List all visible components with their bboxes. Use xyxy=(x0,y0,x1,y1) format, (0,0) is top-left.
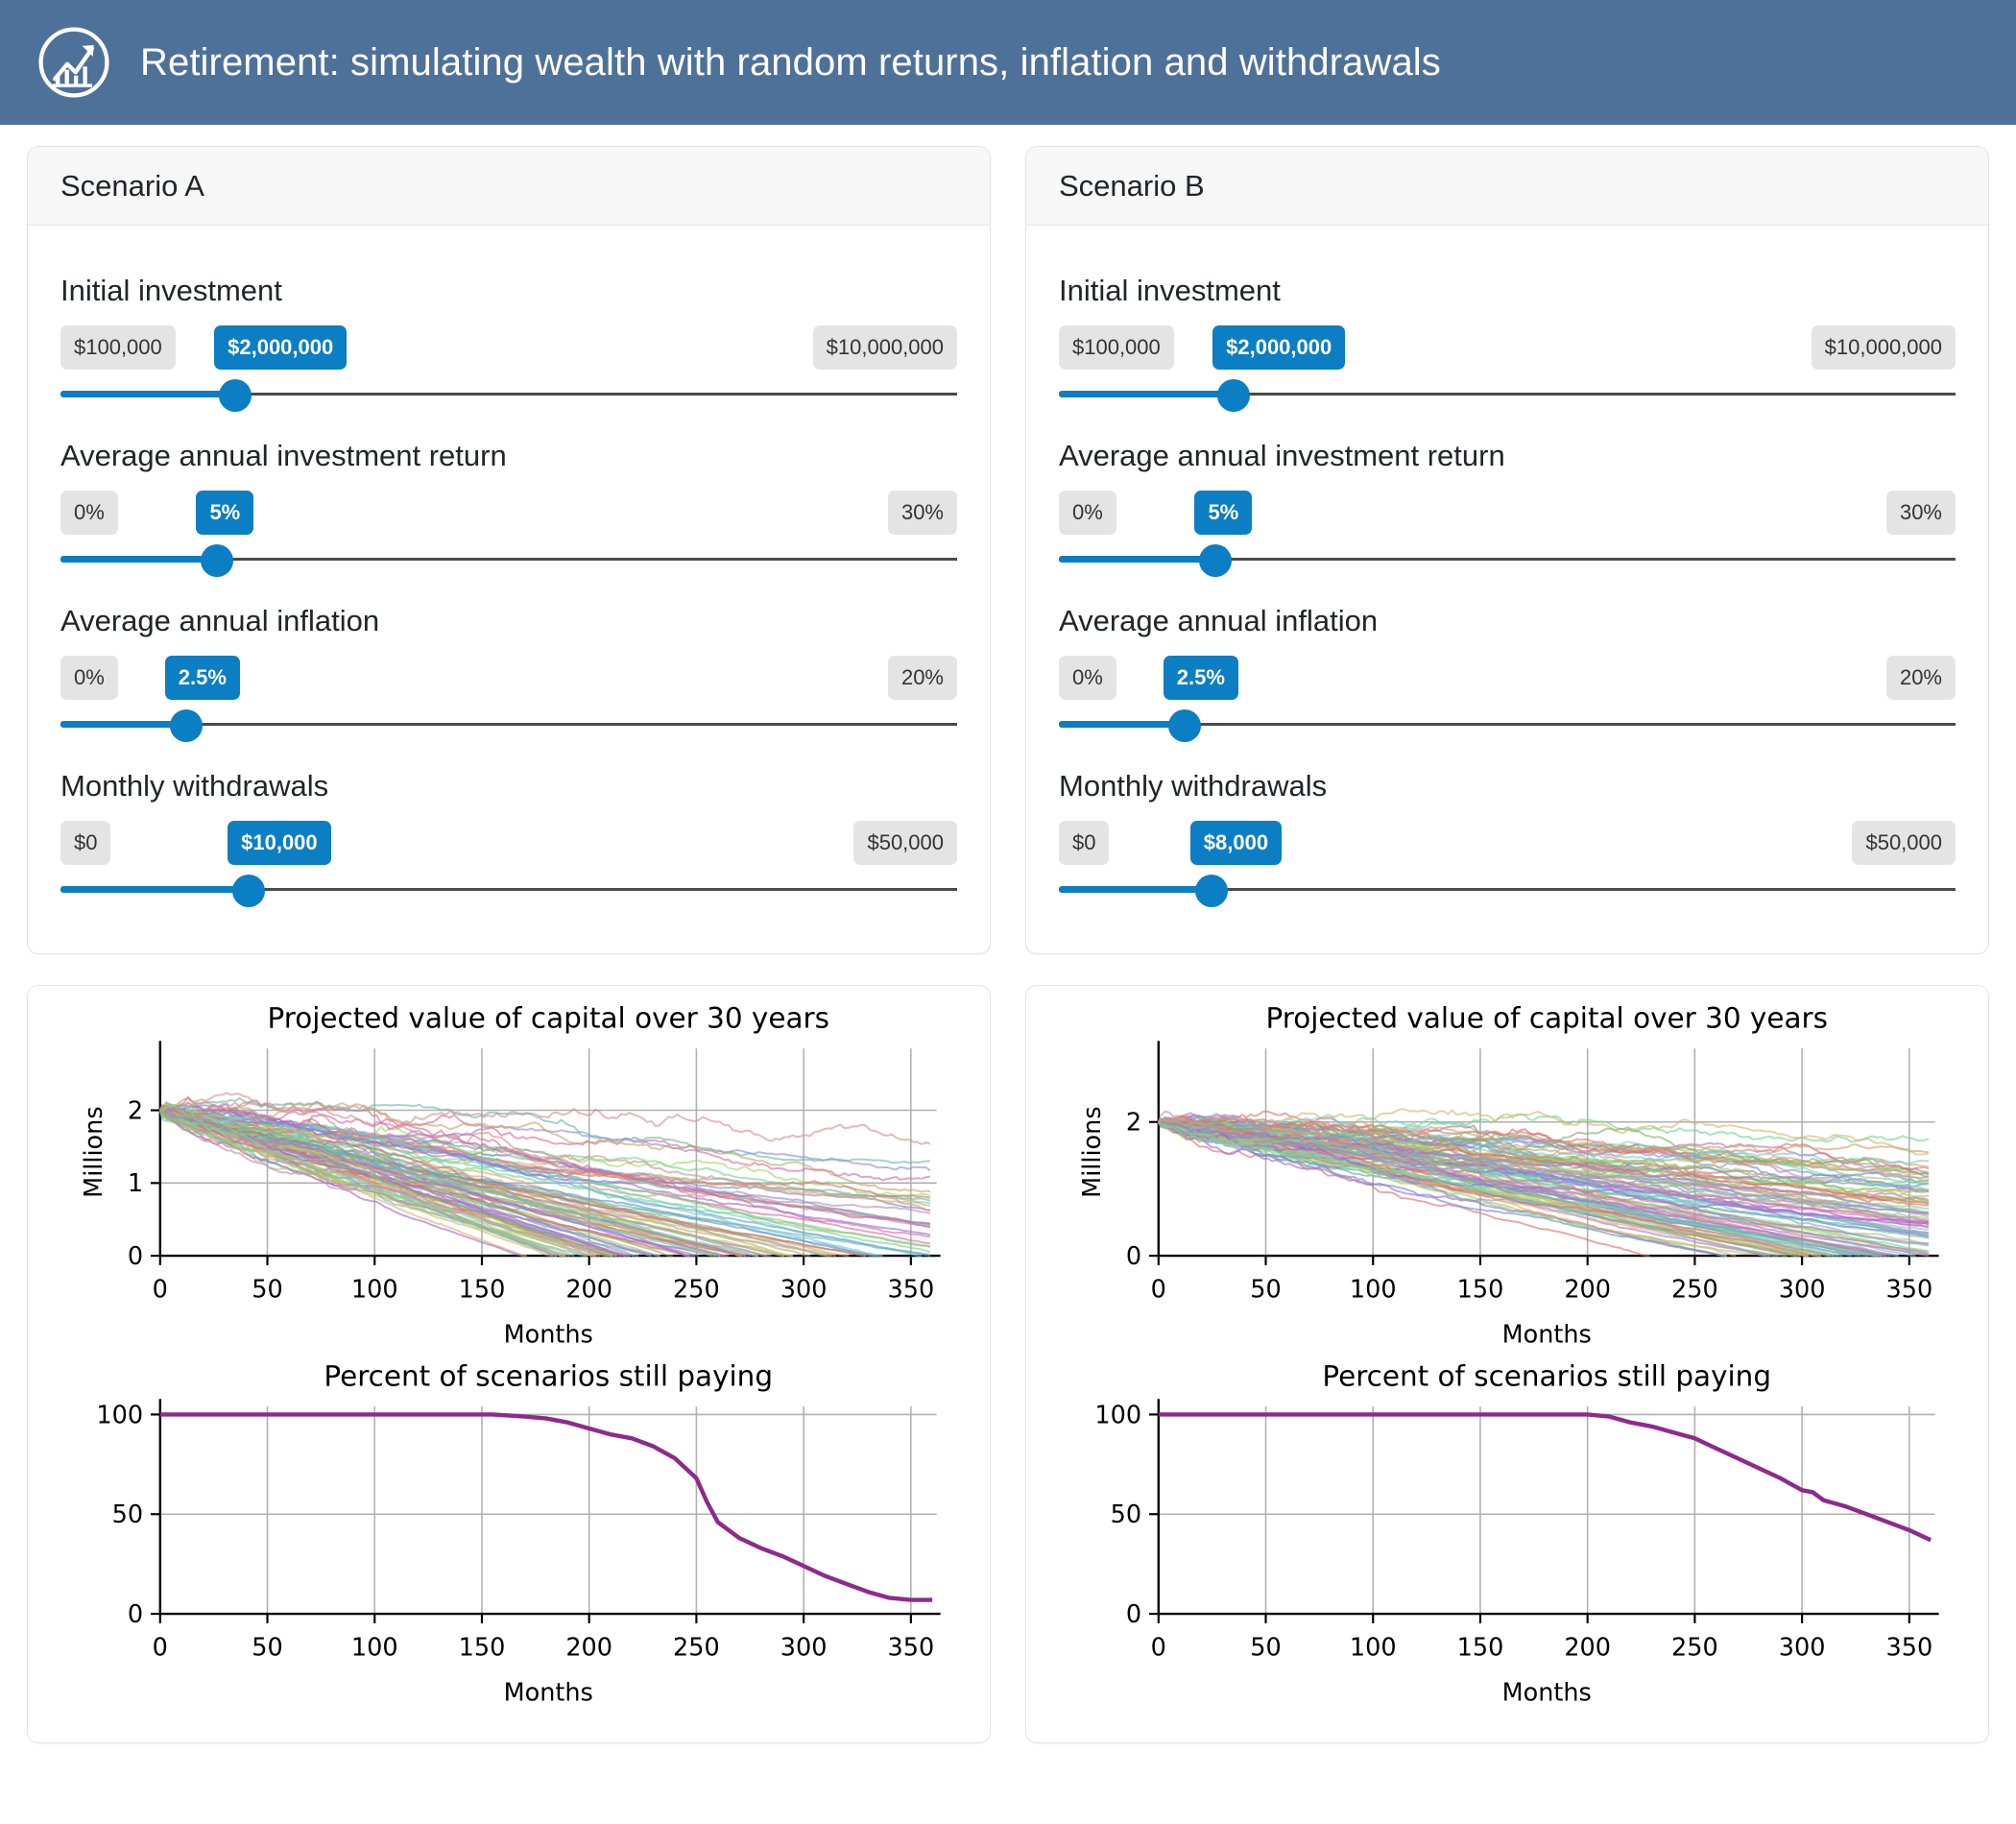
slider-min-label: 0% xyxy=(60,656,118,700)
svg-text:300: 300 xyxy=(1779,1275,1826,1304)
slider-thumb[interactable] xyxy=(1217,379,1250,412)
svg-text:300: 300 xyxy=(1779,1633,1826,1662)
control-label: Initial investment xyxy=(60,274,957,308)
control-monthly-withdrawals-b: Monthly withdrawals $0 $8,000 $50,000 xyxy=(1059,769,1956,911)
svg-text:350: 350 xyxy=(887,1633,934,1662)
slider-value-label: 2.5% xyxy=(1164,656,1238,700)
scenario-b-controls: Initial investment $100,000 $2,000,000 $… xyxy=(1026,226,1988,953)
svg-text:Percent of scenarios still pay: Percent of scenarios still paying xyxy=(324,1361,773,1393)
svg-text:Months: Months xyxy=(1502,1320,1592,1349)
slider-thumb[interactable] xyxy=(170,709,203,742)
svg-text:250: 250 xyxy=(1671,1275,1718,1304)
svg-text:Months: Months xyxy=(1502,1678,1592,1707)
control-tags: 0% 5% 30% xyxy=(60,491,957,535)
percent-still-paying-chart-a: Percent of scenarios still paying0501001… xyxy=(47,1361,971,1719)
svg-text:100: 100 xyxy=(351,1633,398,1662)
svg-text:1: 1 xyxy=(128,1169,143,1198)
slider-fill xyxy=(1059,721,1185,728)
control-initial-investment-a: Initial investment $100,000 $2,000,000 $… xyxy=(60,274,957,416)
slider-thumb[interactable] xyxy=(1168,709,1201,742)
svg-text:0: 0 xyxy=(153,1275,168,1304)
slider-thumb[interactable] xyxy=(1199,544,1232,577)
slider-max-label: $10,000,000 xyxy=(813,325,957,370)
control-initial-investment-b: Initial investment $100,000 $2,000,000 $… xyxy=(1059,274,1956,416)
control-tags: $100,000 $2,000,000 $10,000,000 xyxy=(1059,325,1956,370)
svg-text:0: 0 xyxy=(153,1633,168,1662)
svg-text:0: 0 xyxy=(1126,1600,1141,1629)
slider-max-label: 20% xyxy=(888,656,957,700)
slider-max-label: $50,000 xyxy=(853,821,957,865)
svg-text:50: 50 xyxy=(1250,1633,1281,1662)
svg-text:350: 350 xyxy=(887,1275,934,1304)
app-header: Retirement: simulating wealth with rando… xyxy=(0,0,2016,125)
control-monthly-withdrawals-a: Monthly withdrawals $0 $10,000 $50,000 xyxy=(60,769,957,911)
svg-text:250: 250 xyxy=(673,1275,720,1304)
slider-value-label: 5% xyxy=(1194,491,1252,535)
control-label: Average annual investment return xyxy=(1059,439,1956,473)
control-tags: 0% 5% 30% xyxy=(1059,491,1956,535)
control-annual-return-b: Average annual investment return 0% 5% 3… xyxy=(1059,439,1956,581)
slider-thumb[interactable] xyxy=(1195,875,1228,907)
svg-text:0: 0 xyxy=(128,1242,143,1271)
svg-text:50: 50 xyxy=(112,1500,143,1529)
svg-text:300: 300 xyxy=(780,1633,828,1662)
svg-text:Millions: Millions xyxy=(80,1106,108,1197)
control-label: Average annual inflation xyxy=(60,604,957,638)
svg-text:200: 200 xyxy=(1564,1633,1611,1662)
slider-initial-investment-b[interactable] xyxy=(1059,373,1956,416)
slider-min-label: 0% xyxy=(1059,656,1116,700)
scenario-b-charts: Projected value of capital over 30 years… xyxy=(1026,986,1988,1742)
svg-text:200: 200 xyxy=(565,1633,612,1662)
svg-text:250: 250 xyxy=(673,1633,720,1662)
control-tags: 0% 2.5% 20% xyxy=(60,656,957,700)
slider-annual-return-b[interactable] xyxy=(1059,539,1956,581)
control-label: Average annual inflation xyxy=(1059,604,1956,638)
svg-text:200: 200 xyxy=(565,1275,612,1304)
slider-fill xyxy=(60,556,217,563)
control-label: Monthly withdrawals xyxy=(60,769,957,804)
svg-text:0: 0 xyxy=(1151,1633,1166,1662)
scenario-b-title: Scenario B xyxy=(1026,147,1988,226)
svg-text:300: 300 xyxy=(780,1275,828,1304)
slider-min-label: 0% xyxy=(60,491,118,535)
slider-thumb[interactable] xyxy=(232,875,265,907)
svg-text:150: 150 xyxy=(459,1275,506,1304)
slider-fill xyxy=(1059,391,1234,397)
slider-fill xyxy=(1059,886,1212,893)
svg-text:50: 50 xyxy=(1111,1500,1141,1529)
control-annual-inflation-a: Average annual inflation 0% 2.5% 20% xyxy=(60,604,957,746)
slider-fill xyxy=(60,721,186,728)
svg-text:2: 2 xyxy=(128,1096,143,1125)
scenario-charts-row: Projected value of capital over 30 years… xyxy=(27,985,1989,1743)
svg-text:150: 150 xyxy=(459,1633,506,1662)
control-tags: $0 $10,000 $50,000 xyxy=(60,821,957,865)
svg-text:100: 100 xyxy=(1350,1275,1397,1304)
slider-fill xyxy=(60,886,249,893)
svg-text:Months: Months xyxy=(504,1320,593,1349)
svg-text:150: 150 xyxy=(1457,1633,1504,1662)
svg-text:0: 0 xyxy=(128,1600,143,1629)
svg-text:0: 0 xyxy=(1151,1275,1166,1304)
svg-text:200: 200 xyxy=(1564,1275,1611,1304)
svg-text:Projected value of capital ove: Projected value of capital over 30 years xyxy=(268,1003,829,1035)
slider-min-label: $0 xyxy=(60,821,110,865)
svg-text:Percent of scenarios still pay: Percent of scenarios still paying xyxy=(1322,1361,1771,1393)
control-annual-inflation-b: Average annual inflation 0% 2.5% 20% xyxy=(1059,604,1956,746)
slider-monthly-withdrawals-a[interactable] xyxy=(60,869,957,911)
scenario-a-card: Scenario A Initial investment $100,000 $… xyxy=(27,146,991,954)
control-tags: 0% 2.5% 20% xyxy=(1059,656,1956,700)
scenario-a-charts-card: Projected value of capital over 30 years… xyxy=(27,985,991,1743)
line-chart-arrow-circle-icon xyxy=(33,21,115,104)
svg-text:150: 150 xyxy=(1457,1275,1504,1304)
slider-fill xyxy=(60,391,235,397)
slider-min-label: 0% xyxy=(1059,491,1116,535)
scenario-a-controls: Initial investment $100,000 $2,000,000 $… xyxy=(28,226,990,953)
slider-min-label: $100,000 xyxy=(1059,325,1174,370)
slider-min-label: $100,000 xyxy=(60,325,176,370)
slider-min-label: $0 xyxy=(1059,821,1109,865)
svg-text:100: 100 xyxy=(351,1275,398,1304)
slider-value-label: 2.5% xyxy=(165,656,240,700)
slider-initial-investment-a[interactable] xyxy=(60,373,957,416)
scenario-b-card: Scenario B Initial investment $100,000 $… xyxy=(1025,146,1989,954)
svg-text:50: 50 xyxy=(252,1633,282,1662)
slider-thumb[interactable] xyxy=(201,544,233,577)
slider-thumb[interactable] xyxy=(219,379,252,412)
slider-annual-return-a[interactable] xyxy=(60,539,957,581)
svg-text:50: 50 xyxy=(252,1275,282,1304)
slider-max-label: 30% xyxy=(888,491,957,535)
slider-monthly-withdrawals-b[interactable] xyxy=(1059,869,1956,911)
svg-text:Months: Months xyxy=(504,1678,593,1707)
svg-text:2: 2 xyxy=(1126,1109,1141,1138)
slider-value-label: $8,000 xyxy=(1190,821,1282,865)
svg-text:350: 350 xyxy=(1885,1275,1932,1304)
page-content: Scenario A Initial investment $100,000 $… xyxy=(0,125,2016,1743)
slider-value-label: 5% xyxy=(196,491,253,535)
control-tags: $100,000 $2,000,000 $10,000,000 xyxy=(60,325,957,370)
scenario-controls-row: Scenario A Initial investment $100,000 $… xyxy=(27,146,1989,954)
scenario-a-title: Scenario A xyxy=(28,147,990,226)
slider-max-label: $50,000 xyxy=(1852,821,1956,865)
svg-text:250: 250 xyxy=(1671,1633,1718,1662)
slider-value-label: $2,000,000 xyxy=(214,325,347,370)
control-label: Initial investment xyxy=(1059,274,1956,308)
control-tags: $0 $8,000 $50,000 xyxy=(1059,821,1956,865)
percent-still-paying-chart-b: Percent of scenarios still paying0501001… xyxy=(1045,1361,1969,1719)
control-label: Monthly withdrawals xyxy=(1059,769,1956,804)
scenario-a-charts: Projected value of capital over 30 years… xyxy=(28,986,990,1742)
capital-projection-chart-b: Projected value of capital over 30 years… xyxy=(1045,1003,1969,1361)
slider-max-label: 30% xyxy=(1886,491,1956,535)
slider-max-label: 20% xyxy=(1886,656,1956,700)
page-title: Retirement: simulating wealth with rando… xyxy=(140,41,1441,84)
svg-text:Projected value of capital ove: Projected value of capital over 30 years xyxy=(1266,1003,1828,1035)
svg-text:100: 100 xyxy=(96,1401,143,1429)
slider-max-label: $10,000,000 xyxy=(1812,325,1956,370)
svg-text:0: 0 xyxy=(1126,1242,1141,1271)
slider-value-label: $10,000 xyxy=(228,821,331,865)
svg-text:100: 100 xyxy=(1094,1401,1141,1429)
svg-text:50: 50 xyxy=(1250,1275,1281,1304)
capital-projection-chart-a: Projected value of capital over 30 years… xyxy=(47,1003,971,1361)
slider-annual-inflation-b[interactable] xyxy=(1059,704,1956,746)
slider-annual-inflation-a[interactable] xyxy=(60,704,957,746)
scenario-b-charts-card: Projected value of capital over 30 years… xyxy=(1025,985,1989,1743)
slider-fill xyxy=(1059,556,1215,563)
svg-text:Millions: Millions xyxy=(1078,1106,1107,1197)
svg-text:100: 100 xyxy=(1350,1633,1397,1662)
control-label: Average annual investment return xyxy=(60,439,957,473)
slider-value-label: $2,000,000 xyxy=(1212,325,1345,370)
control-annual-return-a: Average annual investment return 0% 5% 3… xyxy=(60,439,957,581)
svg-text:350: 350 xyxy=(1885,1633,1932,1662)
